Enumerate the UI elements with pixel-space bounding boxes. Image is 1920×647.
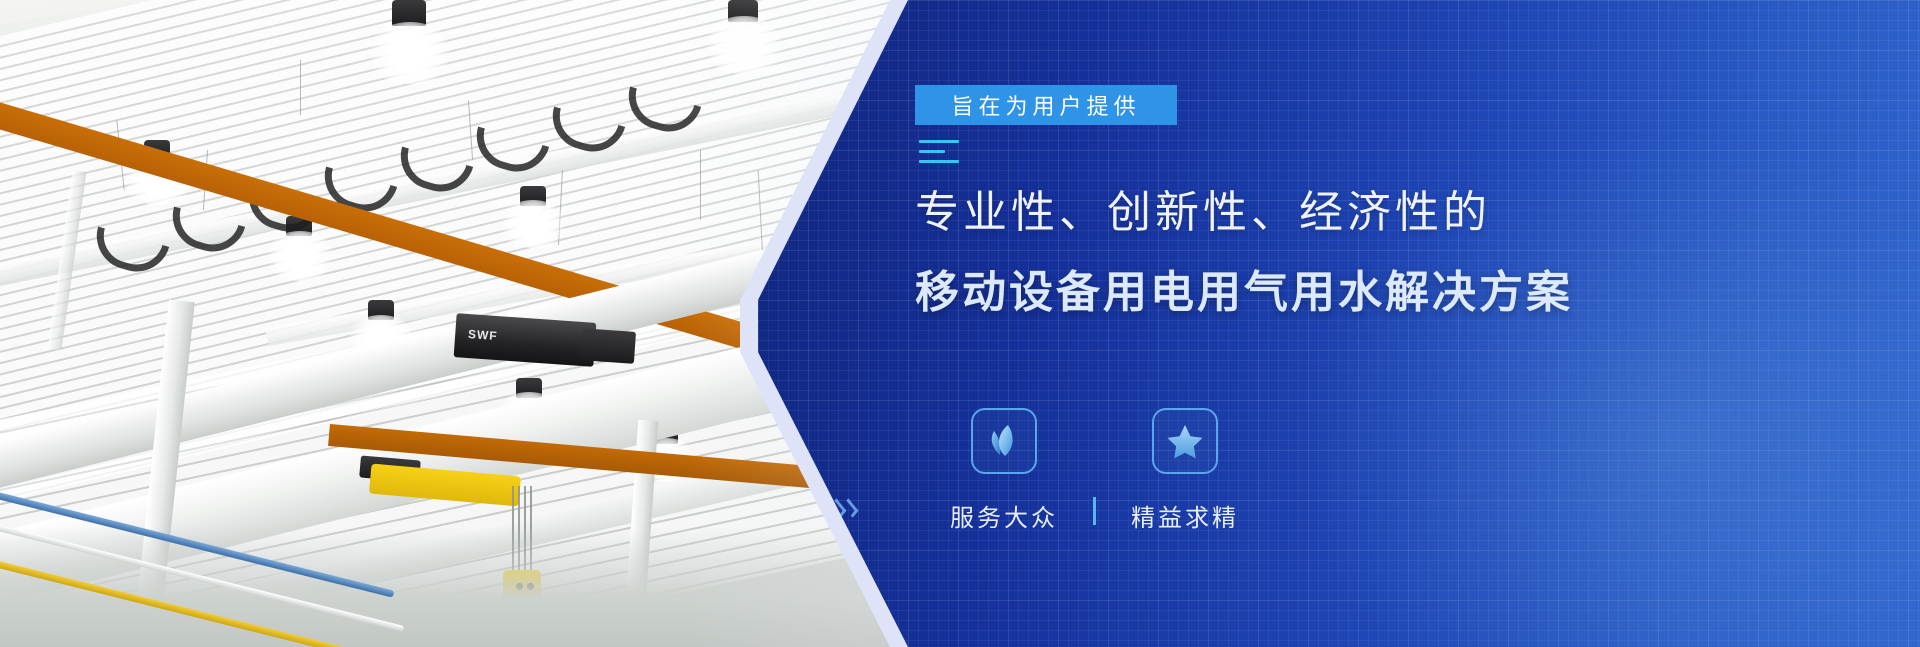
feature-item-serve-public[interactable]: 服务大众 [915,408,1093,533]
tagline-badge-text: 旨在为用户提供 [951,89,1140,121]
three-dashes-icon [919,140,959,170]
tagline-badge: 旨在为用户提供 [915,85,1177,125]
feature-item-excellence[interactable]: 精益求精 [1096,408,1274,533]
banner-content: 旨在为用户提供 专业性、创新性、经济性的 移动设备用电用气用水解决方案 [915,0,1920,647]
leaf-icon [971,408,1037,474]
headline-block: 专业性、创新性、经济性的 移动设备用电用气用水解决方案 [915,180,1920,326]
headline-line-2: 移动设备用电用气用水解决方案 [915,260,1920,326]
feature-label: 服务大众 [950,498,1058,533]
feature-list: 服务大众 精益求精 [915,408,1274,533]
hero-banner: SWF 旨在为用户提供 [0,0,1920,647]
feature-label: 精益求精 [1131,498,1239,533]
headline-line-1: 专业性、创新性、经济性的 [915,180,1920,246]
star-icon [1152,408,1218,474]
